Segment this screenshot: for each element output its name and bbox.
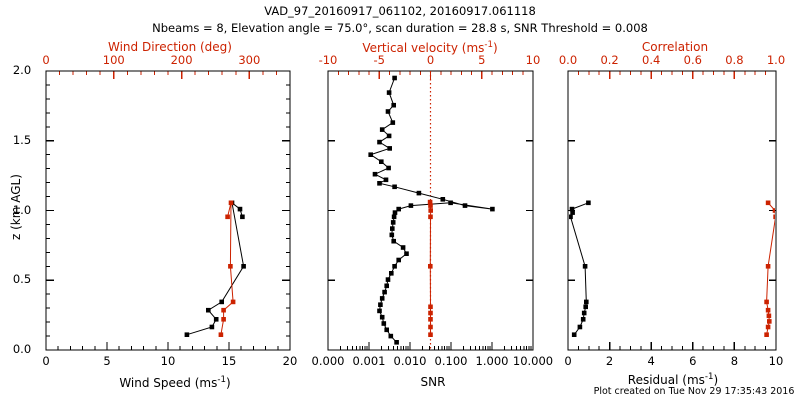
data-point-correlation-6 <box>766 264 771 269</box>
data-point-vertical-velocity-1 <box>428 325 433 330</box>
data-point-wind-speed-2 <box>214 317 219 322</box>
data-point-snr-33 <box>386 166 391 171</box>
data-point-correlation-2 <box>767 319 772 324</box>
data-point-snr-24 <box>448 201 453 206</box>
data-point-snr-17 <box>390 233 395 238</box>
data-point-snr-9 <box>384 284 389 289</box>
vad-plot-figure: VAD_97_20160917_061102, 20160917.061118 … <box>0 0 800 400</box>
data-point-snr-13 <box>396 258 401 263</box>
data-point-correlation-1 <box>766 325 771 330</box>
data-point-wind-direction-6 <box>225 215 230 220</box>
data-point-snr-12 <box>392 264 397 269</box>
data-point-vertical-velocity-9 <box>428 200 433 205</box>
data-point-snr-1 <box>389 334 394 339</box>
data-point-snr-10 <box>386 277 391 282</box>
series-residual <box>568 201 590 338</box>
data-point-vertical-velocity-7 <box>428 208 433 213</box>
data-point-snr-38 <box>387 134 392 139</box>
top-tick-label-correlation-5: 1.0 <box>736 55 800 67</box>
x-tick-label-residual-10: 10 <box>736 356 800 368</box>
data-point-snr-40 <box>391 120 396 125</box>
data-point-correlation-3 <box>767 314 772 319</box>
data-point-snr-31 <box>384 178 389 183</box>
data-point-snr-4 <box>380 315 385 320</box>
data-point-snr-5 <box>377 309 382 314</box>
data-point-vertical-velocity-4 <box>428 305 433 310</box>
data-point-snr-3 <box>382 321 387 326</box>
top-tick-label-wind-direction-300: 300 <box>209 55 289 67</box>
data-point-snr-26 <box>463 203 468 208</box>
data-point-residual-2 <box>581 317 586 322</box>
data-point-residual-6 <box>583 264 588 269</box>
data-point-snr-11 <box>389 271 394 276</box>
data-point-snr-0 <box>394 340 399 345</box>
data-point-wind-speed-4 <box>219 300 224 305</box>
data-point-correlation-0 <box>764 332 769 337</box>
data-point-residual-3 <box>582 311 587 316</box>
data-point-snr-34 <box>379 159 384 164</box>
data-point-snr-43 <box>387 90 392 95</box>
data-point-wind-direction-2 <box>221 308 226 313</box>
series-line-wind-speed <box>187 203 244 335</box>
data-point-wind-speed-0 <box>185 332 190 337</box>
data-point-snr-30 <box>377 181 382 186</box>
data-point-residual-4 <box>583 305 588 310</box>
data-point-wind-direction-5 <box>229 201 234 206</box>
data-point-snr-6 <box>378 302 383 307</box>
data-point-snr-19 <box>391 220 396 225</box>
data-point-snr-20 <box>392 215 397 220</box>
data-point-residual-10 <box>586 201 591 206</box>
data-point-wind-direction-4 <box>228 264 233 269</box>
data-point-snr-2 <box>384 328 389 333</box>
y-tick-label-1.0: 1.0 <box>0 205 62 217</box>
data-point-snr-16 <box>391 239 396 244</box>
data-point-snr-42 <box>391 103 396 108</box>
data-point-wind-direction-1 <box>221 317 226 322</box>
data-point-residual-1 <box>578 325 583 330</box>
data-point-snr-29 <box>392 185 397 190</box>
data-point-correlation-4 <box>766 308 771 313</box>
data-point-wind-speed-1 <box>210 325 215 330</box>
y-tick-label-2.0: 2.0 <box>0 65 62 77</box>
data-point-wind-speed-5 <box>241 264 246 269</box>
data-point-vertical-velocity-6 <box>428 215 433 220</box>
data-point-correlation-5 <box>764 300 769 305</box>
data-point-snr-14 <box>404 251 409 256</box>
y-tick-label-0.0: 0.0 <box>0 344 62 356</box>
series-vertical-velocity <box>428 200 433 337</box>
data-point-snr-25 <box>490 207 495 212</box>
data-point-snr-23 <box>409 203 414 208</box>
series-wind-direction <box>219 201 236 338</box>
data-point-snr-36 <box>387 146 392 151</box>
y-tick-label-1.5: 1.5 <box>0 135 62 147</box>
data-point-wind-speed-3 <box>206 308 211 313</box>
data-point-snr-39 <box>380 127 385 132</box>
y-tick-label-0.5: 0.5 <box>0 274 62 286</box>
series-line-wind-direction <box>221 203 233 335</box>
data-point-wind-direction-3 <box>231 300 236 305</box>
data-point-snr-27 <box>441 197 446 202</box>
data-point-correlation-9 <box>766 201 771 206</box>
data-point-residual-9 <box>570 207 575 212</box>
data-point-residual-7 <box>568 215 573 220</box>
data-point-vertical-velocity-2 <box>428 317 433 322</box>
data-point-snr-37 <box>377 140 382 145</box>
data-point-residual-5 <box>584 300 589 305</box>
data-point-snr-35 <box>368 152 373 157</box>
data-point-vertical-velocity-0 <box>428 332 433 337</box>
data-point-residual-0 <box>572 332 577 337</box>
data-point-snr-22 <box>396 207 401 212</box>
data-point-snr-18 <box>390 226 395 231</box>
data-point-vertical-velocity-5 <box>428 264 433 269</box>
data-point-snr-15 <box>401 245 406 250</box>
data-point-snr-32 <box>373 172 378 177</box>
data-point-snr-44 <box>392 76 397 81</box>
data-point-snr-8 <box>382 290 387 295</box>
data-point-snr-28 <box>417 191 422 196</box>
data-point-snr-7 <box>380 296 385 301</box>
data-point-wind-direction-0 <box>219 332 224 337</box>
data-point-snr-41 <box>386 109 391 114</box>
series-wind-speed <box>185 201 246 338</box>
data-point-wind-speed-7 <box>238 207 243 212</box>
data-point-vertical-velocity-3 <box>428 311 433 316</box>
data-point-wind-speed-8 <box>240 215 245 220</box>
